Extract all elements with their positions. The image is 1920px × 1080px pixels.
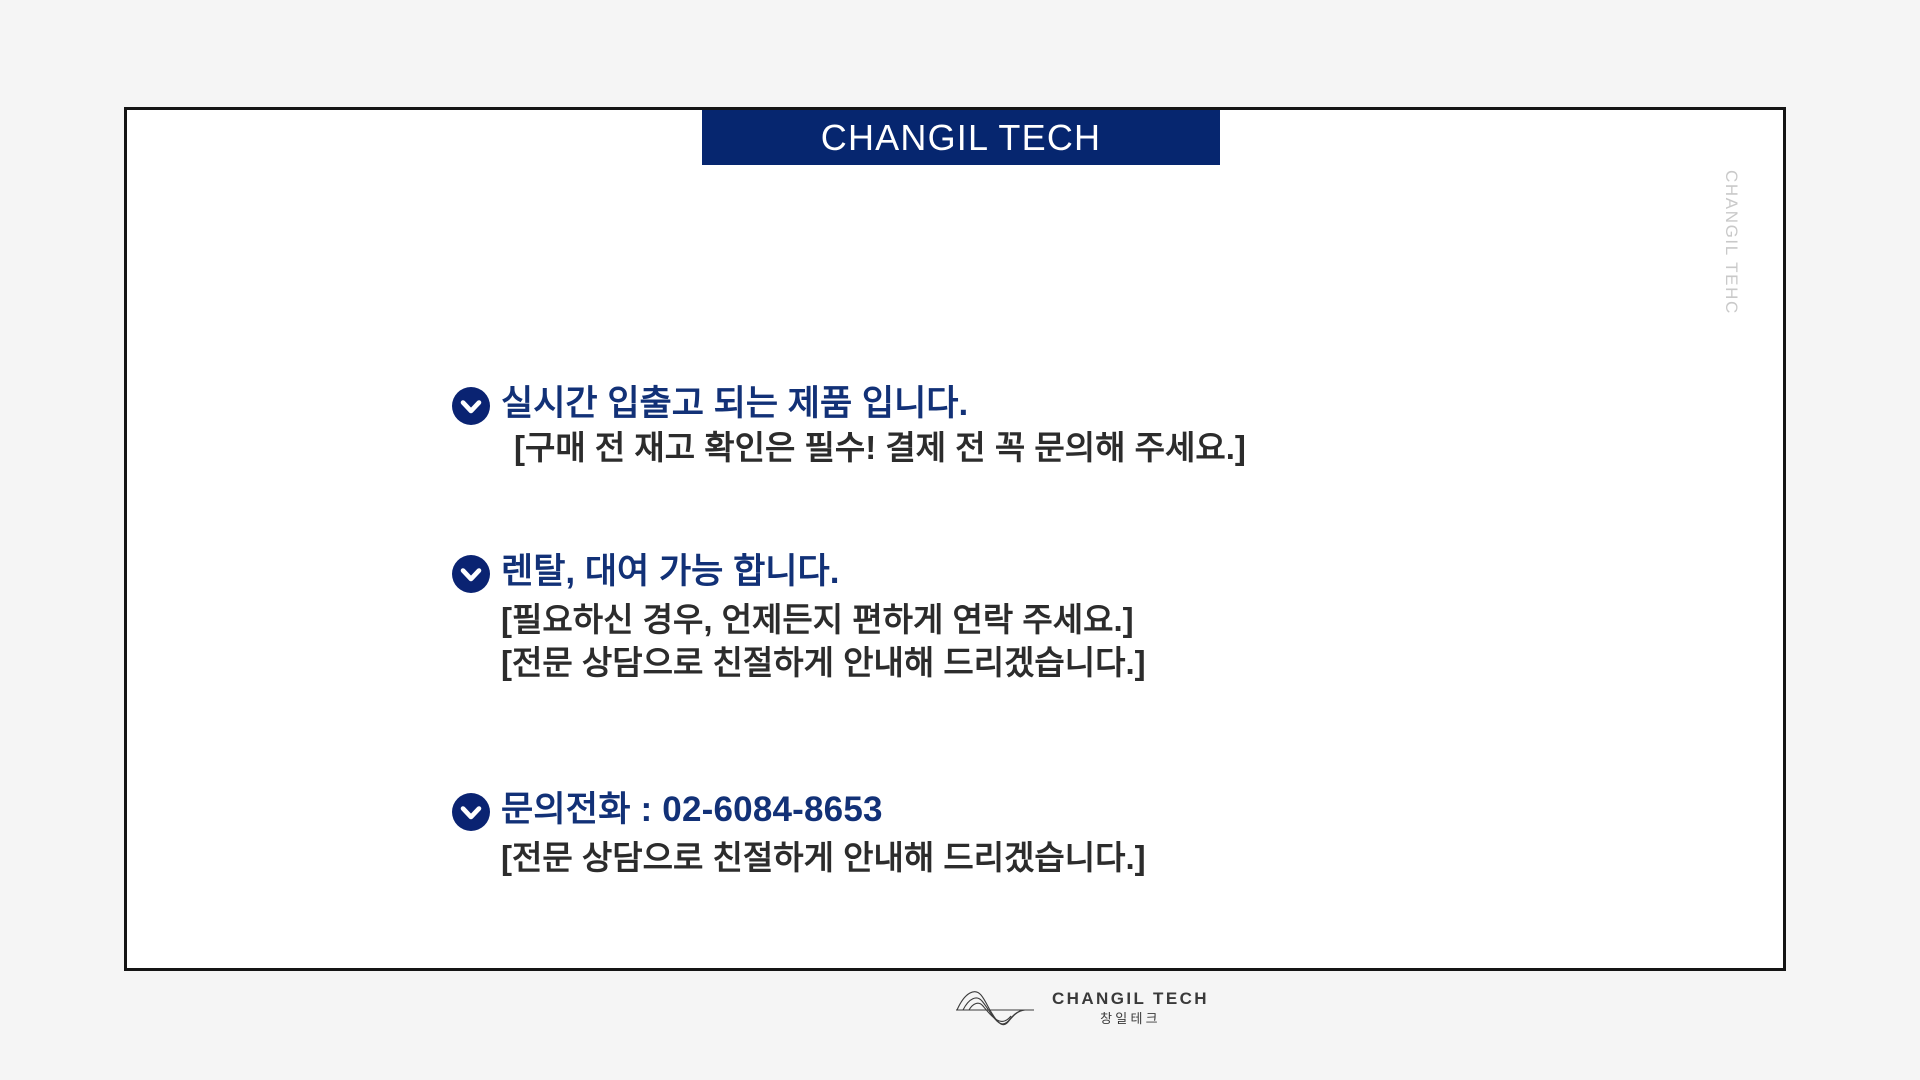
block-2-headline: 렌탈, 대여 가능 합니다. [501, 550, 839, 594]
info-block-3: 문의전화 : 02-6084-8653 [전문 상담으로 친절하게 안내해 드리… [452, 788, 1146, 879]
info-block-2: 렌탈, 대여 가능 합니다. [필요하신 경우, 언제든지 편하게 연락 주세요… [452, 550, 1146, 685]
footer-logo: CHANGIL TECH 창일테크 [955, 986, 1209, 1032]
headline-row-2: 렌탈, 대여 가능 합니다. [452, 550, 1146, 594]
content-area: 실시간 입출고 되는 제품 입니다. [구매 전 재고 확인은 필수! 결제 전… [127, 110, 1783, 968]
content-card: 실시간 입출고 되는 제품 입니다. [구매 전 재고 확인은 필수! 결제 전… [124, 107, 1786, 971]
check-circle-icon [452, 793, 490, 831]
logo-brand-name-kr: 창일테크 [1100, 1011, 1161, 1028]
block-3-subline-1: [전문 상담으로 친절하게 안내해 드리겠습니다.] [501, 836, 1146, 880]
block-2-subline-2: [전문 상담으로 친절하게 안내해 드리겠습니다.] [501, 641, 1146, 685]
page-title: CHANGIL TECH [821, 120, 1101, 156]
headline-row-3: 문의전화 : 02-6084-8653 [452, 788, 1146, 832]
check-circle-icon [452, 555, 490, 593]
wave-signal-logo-icon [955, 986, 1035, 1032]
headline-row-1: 실시간 입출고 되는 제품 입니다. [452, 382, 1246, 426]
logo-wordmark: CHANGIL TECH 창일테크 [1052, 990, 1209, 1029]
vertical-watermark: CHANGIL TEHC [1726, 170, 1756, 370]
logo-brand-name: CHANGIL TECH [1052, 990, 1209, 1009]
block-1-subline-1: [구매 전 재고 확인은 필수! 결제 전 꼭 문의해 주세요.] [514, 426, 1246, 470]
contact-phone-headline: 문의전화 : 02-6084-8653 [501, 788, 883, 832]
watermark-text: CHANGIL TEHC [1721, 170, 1741, 315]
check-circle-icon [452, 387, 490, 425]
block-2-subline-1: [필요하신 경우, 언제든지 편하게 연락 주세요.] [501, 598, 1146, 642]
slide-canvas: 실시간 입출고 되는 제품 입니다. [구매 전 재고 확인은 필수! 결제 전… [0, 0, 1920, 1080]
info-block-1: 실시간 입출고 되는 제품 입니다. [구매 전 재고 확인은 필수! 결제 전… [452, 382, 1246, 469]
block-1-headline: 실시간 입출고 되는 제품 입니다. [501, 382, 968, 426]
title-banner: CHANGIL TECH [702, 110, 1220, 165]
